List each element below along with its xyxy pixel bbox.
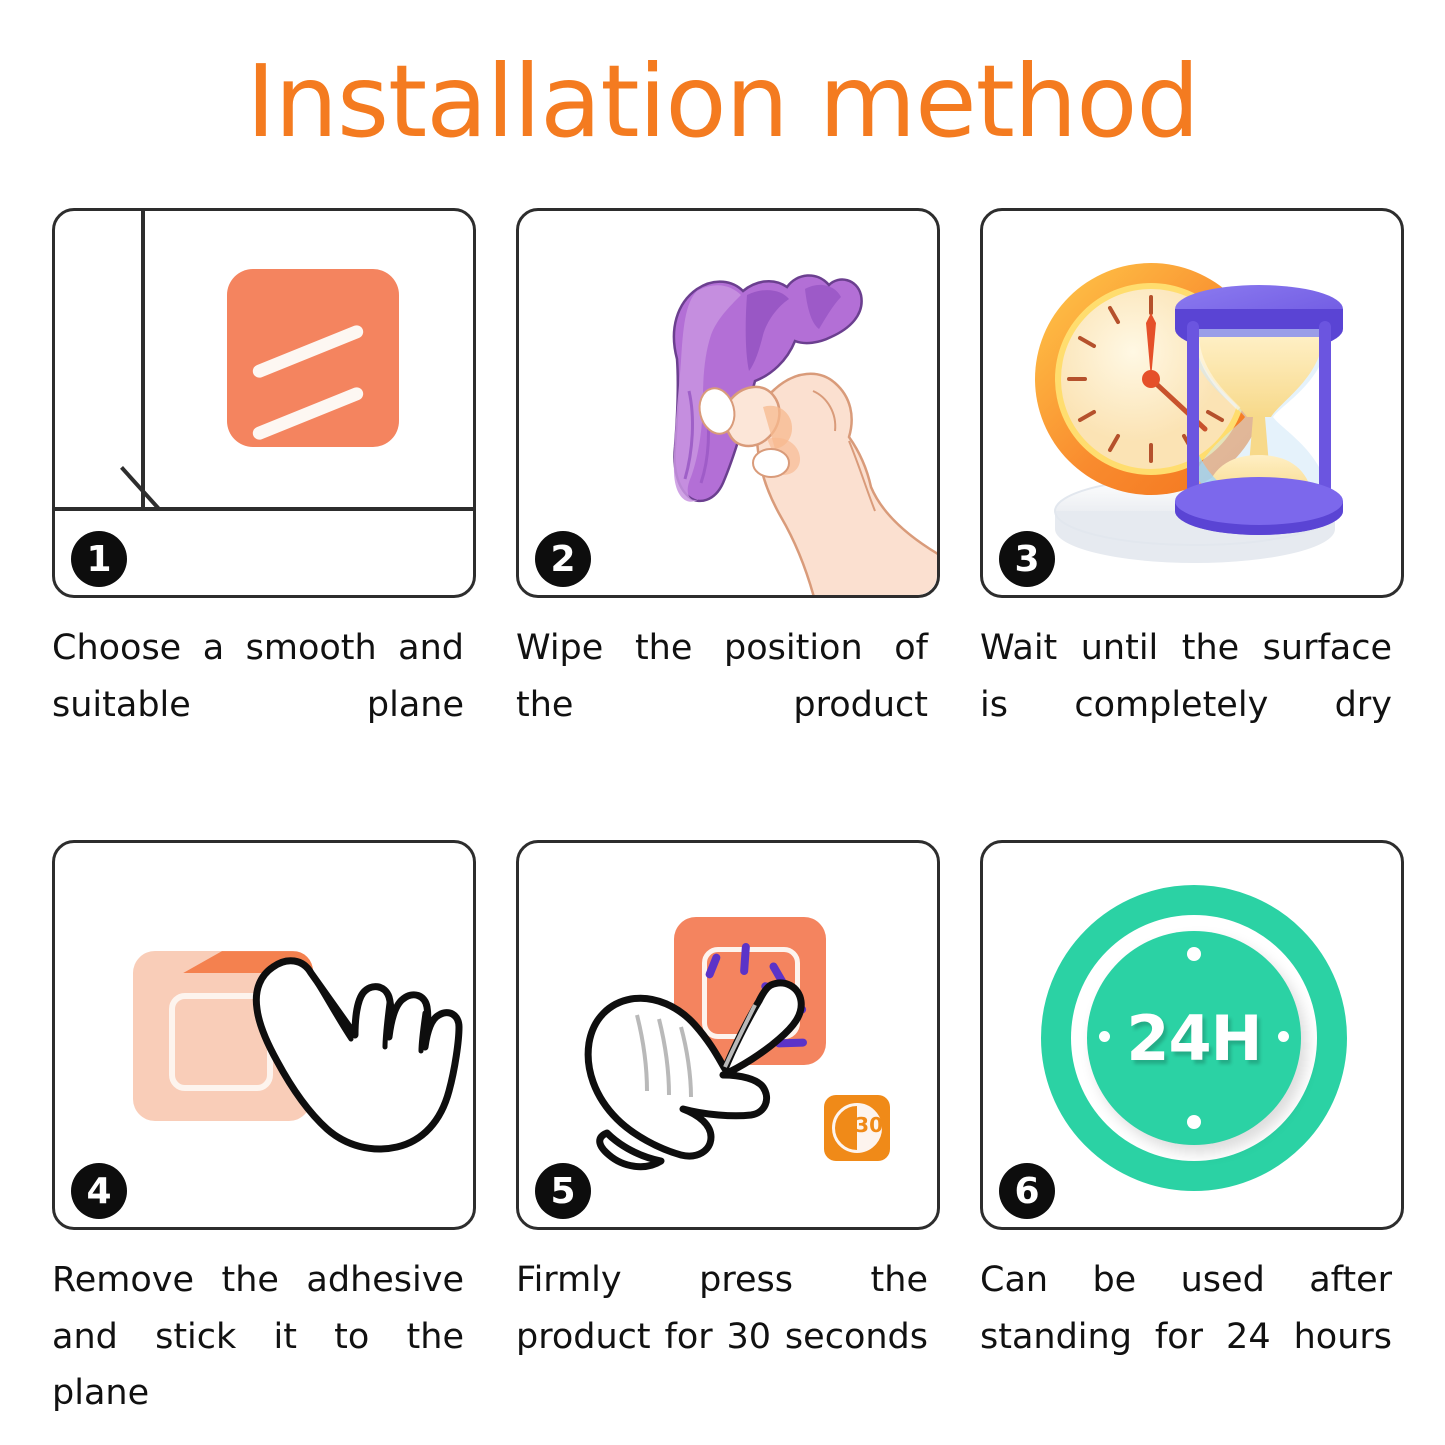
timer-30-seconds-badge: 30 <box>824 1095 890 1161</box>
step-4: 4 Remove the adhesive and stick it to th… <box>52 840 476 1445</box>
product-square-icon <box>227 269 399 447</box>
page-title: Installation method <box>0 42 1445 162</box>
installation-method-infographic: Installation method 1 Choose a smooth an… <box>0 0 1445 1445</box>
step-1: 1 Choose a smooth and suitable plane <box>52 208 476 790</box>
step-2-caption: Wipe the position of the product <box>516 620 928 790</box>
step-1-panel: 1 <box>52 208 476 598</box>
step-number-badge: 6 <box>999 1163 1055 1219</box>
step-2-panel: 2 <box>516 208 940 598</box>
wall-floor-line-icon <box>55 507 473 511</box>
step-2: 2 Wipe the position of the product <box>516 208 940 790</box>
step-number-badge: 5 <box>535 1163 591 1219</box>
wall-vertical-line-icon <box>141 211 145 509</box>
shine-streak-icon <box>251 323 365 379</box>
step-number-badge: 3 <box>999 531 1055 587</box>
steps-grid: 1 Choose a smooth and suitable plane <box>52 208 1404 1445</box>
step-4-caption: Remove the adhesive and stick it to the … <box>52 1252 464 1445</box>
step-6: 24H 6 Can be used after standing for 24 … <box>980 840 1404 1445</box>
step-number-badge: 4 <box>71 1163 127 1219</box>
step-6-caption: Can be used after standing for 24 hours <box>980 1252 1392 1422</box>
step-3-caption: Wait until the surface is completely dry <box>980 620 1392 790</box>
24h-disc-icon: 24H <box>1087 931 1301 1145</box>
24h-label: 24H <box>1087 931 1301 1145</box>
shine-streak-icon <box>251 385 365 441</box>
step-1-caption: Choose a smooth and suitable plane <box>52 620 464 790</box>
step-5-caption: Firmly press the product for 30 seconds <box>516 1252 928 1422</box>
step-3-panel: 3 <box>980 208 1404 598</box>
step-number-badge: 2 <box>535 531 591 587</box>
step-5: 30 5 Firmly press the product for 30 sec… <box>516 840 940 1445</box>
step-4-panel: 4 <box>52 840 476 1230</box>
step-5-panel: 30 5 <box>516 840 940 1230</box>
step-number-badge: 1 <box>71 531 127 587</box>
step-6-panel: 24H 6 <box>980 840 1404 1230</box>
timer-value: 30 <box>855 1113 883 1137</box>
step-3: 3 Wait until the surface is completely d… <box>980 208 1404 790</box>
